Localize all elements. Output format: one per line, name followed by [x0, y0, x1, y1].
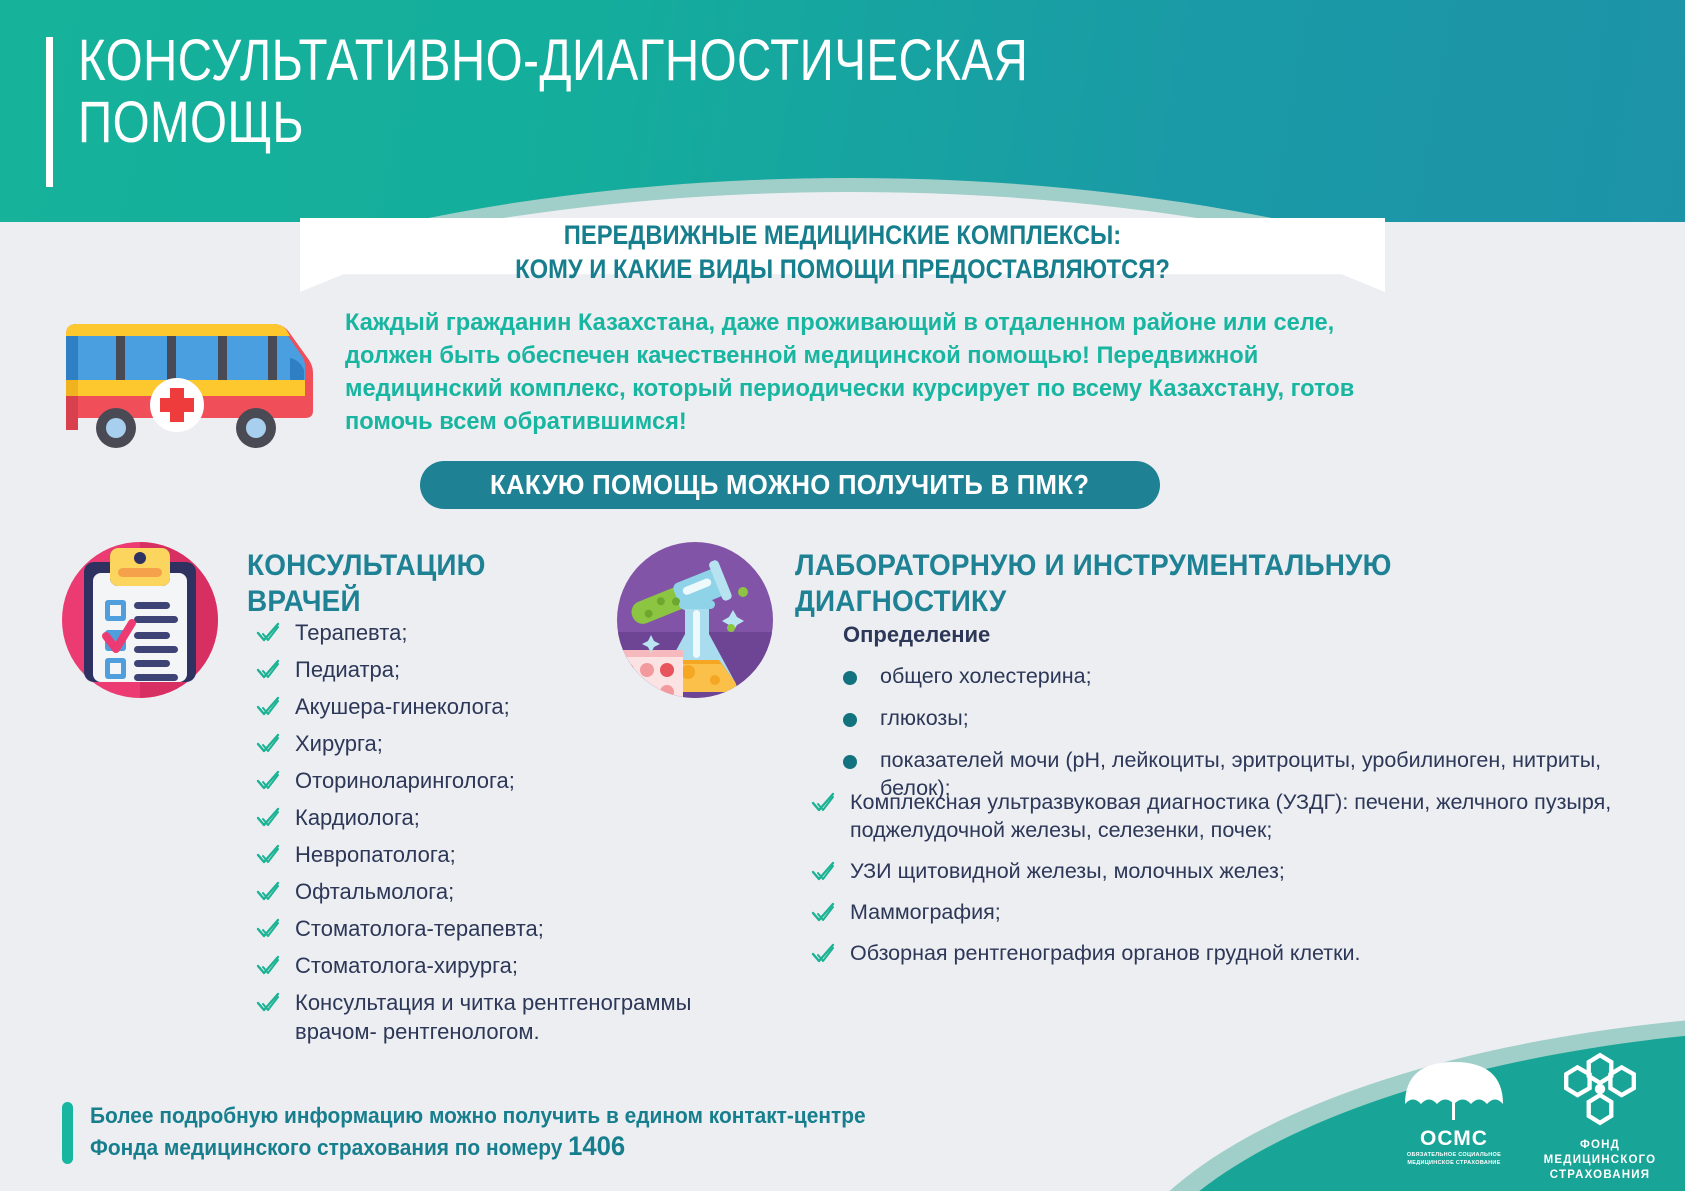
list-item-label: Маммография;	[850, 900, 1001, 924]
list-item: общего холестерина;	[843, 662, 1633, 690]
snowflake-emblem-icon	[1561, 1050, 1639, 1128]
list-item: Комплексная ультразвуковая диагностика (…	[805, 788, 1645, 844]
check-icon	[256, 622, 280, 644]
subtitle-text: ПЕРЕДВИЖНЫЕ МЕДИЦИНСКИЕ КОМПЛЕКСЫ: КОМУ …	[365, 218, 1320, 286]
check-icon	[256, 844, 280, 866]
list-item-label: Стоматолога-терапевта;	[295, 916, 544, 941]
list-item: Кардиолога;	[250, 803, 720, 832]
title-accent-bar	[46, 37, 53, 187]
list-item-label: Педиатра;	[295, 657, 400, 682]
list-item-label: Стоматолога-хирурга;	[295, 953, 518, 978]
check-icon	[811, 943, 835, 965]
list-item-label: глюкозы;	[880, 706, 969, 730]
osms-logo-word: ОСМС	[1398, 1127, 1510, 1151]
list-item-label: Консультация и читка рентгенограммы врач…	[295, 990, 691, 1044]
check-icon	[256, 696, 280, 718]
list-item: Невропатолога;	[250, 840, 720, 869]
list-item: Обзорная рентгенография органов грудной …	[805, 939, 1645, 967]
header-banner: КОНСУЛЬТАТИВНО-ДИАГНОСТИЧЕСКАЯ ПОМОЩЬ	[0, 0, 1685, 222]
footer-line-2: Фонда медицинского страхования по номеру…	[90, 1131, 945, 1163]
list-item: глюкозы;	[843, 704, 1633, 732]
check-icon	[811, 902, 835, 924]
check-icon	[256, 807, 280, 829]
check-icon	[256, 733, 280, 755]
right-column-subheading: Определение	[843, 622, 990, 648]
check-icon	[256, 881, 280, 903]
left-column-heading: КОНСУЛЬТАЦИЮ ВРАЧЕЙ	[247, 548, 647, 620]
infographic-page: КОНСУЛЬТАТИВНО-ДИАГНОСТИЧЕСКАЯ ПОМОЩЬ ПЕ…	[0, 0, 1685, 1191]
list-item-label: Невропатолога;	[295, 842, 456, 867]
clipboard-checklist-icon	[60, 540, 220, 700]
list-item: Маммография;	[805, 898, 1645, 926]
list-item-label: Обзорная рентгенография органов грудной …	[850, 941, 1361, 965]
intro-paragraph: Каждый гражданин Казахстана, даже прожив…	[345, 306, 1411, 438]
list-item: Консультация и читка рентгенограммы врач…	[250, 988, 720, 1046]
check-icon	[256, 659, 280, 681]
footer-contact-text: Более подробную информацию можно получит…	[90, 1100, 945, 1163]
check-icon	[256, 918, 280, 940]
list-item-label: общего холестерина;	[880, 664, 1092, 688]
check-icon	[811, 861, 835, 883]
page-title: КОНСУЛЬТАТИВНО-ДИАГНОСТИЧЕСКАЯ ПОМОЩЬ	[78, 30, 1144, 154]
check-icon	[256, 992, 280, 1014]
list-item: УЗИ щитовидной железы, молочных желез;	[805, 857, 1645, 885]
bullet-dot-icon	[843, 713, 857, 727]
umbrella-icon	[1399, 1058, 1509, 1120]
list-item: Стоматолога-терапевта;	[250, 914, 720, 943]
list-item-label: Кардиолога;	[295, 805, 420, 830]
list-item-label: Терапевта;	[295, 620, 407, 645]
list-item: Стоматолога-хирурга;	[250, 951, 720, 980]
list-item-label: Хирурга;	[295, 731, 383, 756]
list-item: Оториноларинголога;	[250, 766, 720, 795]
instrumental-diagnostics-list: Комплексная ультразвуковая диагностика (…	[805, 788, 1645, 980]
fond-logo: ФОНД МЕДИЦИНСКОГО СТРАХОВАНИЯ	[1530, 1050, 1670, 1183]
list-item-label: Офтальмолога;	[295, 879, 454, 904]
list-item-label: Комплексная ультразвуковая диагностика (…	[850, 790, 1611, 842]
footer-accent-bar	[62, 1102, 73, 1164]
laboratory-flask-icon	[615, 540, 775, 700]
footer-line-2-prefix: Фонда медицинского страхования по номеру	[90, 1135, 568, 1160]
right-column-heading: ЛАБОРАТОРНУЮ И ИНСТРУМЕНТАЛЬНУЮ ДИАГНОСТ…	[795, 548, 1586, 620]
osms-logo: ОСМС ОБЯЗАТЕЛЬНОЕ СОЦИАЛЬНОЕ МЕДИЦИНСКОЕ…	[1398, 1058, 1510, 1176]
check-icon	[811, 792, 835, 814]
section-pill: КАКУЮ ПОМОЩЬ МОЖНО ПОЛУЧИТЬ В ПМК?	[420, 461, 1160, 509]
contact-phone-number: 1406	[568, 1131, 625, 1161]
list-item: Хирурга;	[250, 729, 720, 758]
footer-line-1: Более подробную информацию можно получит…	[90, 1100, 945, 1131]
osms-logo-caption: ОБЯЗАТЕЛЬНОЕ СОЦИАЛЬНОЕ МЕДИЦИНСКОЕ СТРА…	[1398, 1151, 1510, 1167]
section-pill-label: КАКУЮ ПОМОЩЬ МОЖНО ПОЛУЧИТЬ В ПМК?	[490, 469, 1089, 501]
list-item: Офтальмолога;	[250, 877, 720, 906]
fond-logo-label: ФОНД МЕДИЦИНСКОГО СТРАХОВАНИЯ	[1530, 1138, 1670, 1183]
check-icon	[256, 770, 280, 792]
check-icon	[256, 955, 280, 977]
mobile-medical-bus-icon	[44, 300, 314, 450]
list-item-label: Акушера-гинеколога;	[295, 694, 510, 719]
list-item-label: УЗИ щитовидной железы, молочных желез;	[850, 859, 1285, 883]
bullet-dot-icon	[843, 671, 857, 685]
bullet-dot-icon	[843, 755, 857, 769]
list-item-label: Оториноларинголога;	[295, 768, 515, 793]
